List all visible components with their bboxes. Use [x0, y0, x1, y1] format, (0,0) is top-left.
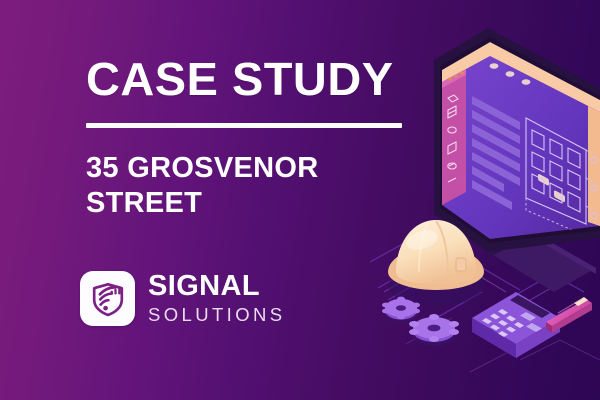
desk-circuit-lines	[370, 240, 584, 336]
hero-text-block: CASE STUDY 35 GROSVENOR STREET	[86, 54, 416, 221]
safety-helmet	[388, 220, 484, 306]
calculator	[472, 292, 560, 358]
window-buttons	[448, 72, 465, 81]
case-study-banner: CASE STUDY 35 GROSVENOR STREET	[0, 0, 600, 400]
logo-wordmark: SIGNAL SOLUTIONS	[148, 272, 286, 325]
cad-tool-icons	[448, 95, 458, 182]
gear-pair	[382, 297, 459, 346]
outline-gear-decor	[439, 129, 493, 183]
page-title: CASE STUDY	[86, 54, 423, 104]
logo-badge	[80, 271, 135, 326]
spec-text-lines	[472, 96, 520, 210]
logo[interactable]: SIGNAL SOLUTIONS	[80, 271, 286, 326]
logo-primary-text: SIGNAL	[148, 272, 286, 301]
menu-chips	[490, 63, 565, 202]
page-subtitle: 35 GROSVENOR STREET	[86, 151, 376, 221]
outline-gear-decor-small	[574, 186, 600, 214]
isometric-monitor	[434, 28, 600, 292]
pen	[546, 297, 592, 333]
logo-secondary-text: SOLUTIONS	[148, 306, 286, 325]
desk-highlight-lines	[384, 250, 576, 300]
signal-shield-icon	[89, 280, 127, 318]
facade-window-grid	[526, 118, 597, 236]
divider-rule	[86, 123, 402, 128]
